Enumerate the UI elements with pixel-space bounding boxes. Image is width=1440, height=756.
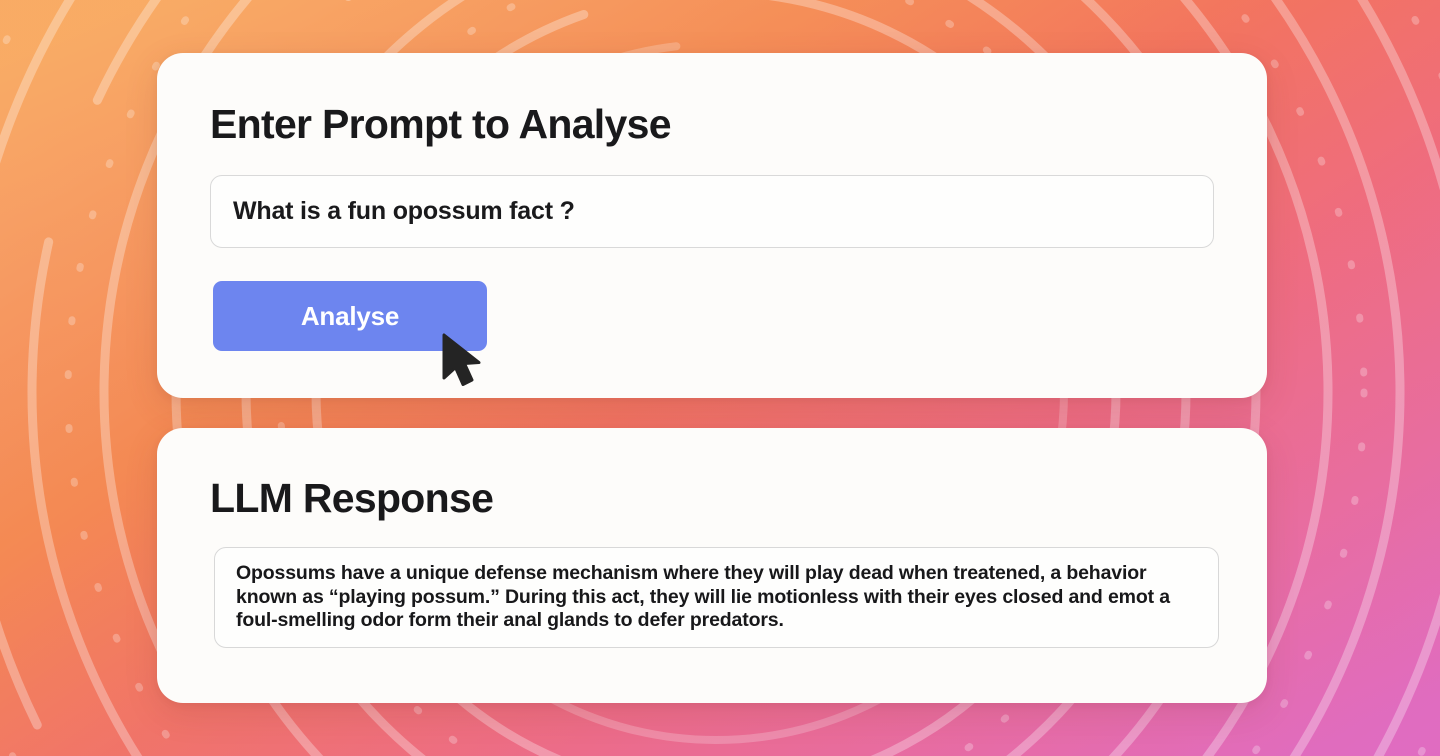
app-screen: Enter Prompt to Analyse Analyse LLM Resp… [0,0,1440,756]
analyse-button[interactable]: Analyse [213,281,487,351]
response-title: LLM Response [210,475,493,522]
page-title: Enter Prompt to Analyse [210,101,671,148]
llm-response-box: Opossums have a unique defense mechanism… [214,547,1219,648]
llm-response-text: Opossums have a unique defense mechanism… [236,562,1200,633]
prompt-input[interactable] [210,175,1214,248]
response-card: LLM Response Opossums have a unique defe… [157,428,1267,703]
prompt-card: Enter Prompt to Analyse Analyse [157,53,1267,398]
